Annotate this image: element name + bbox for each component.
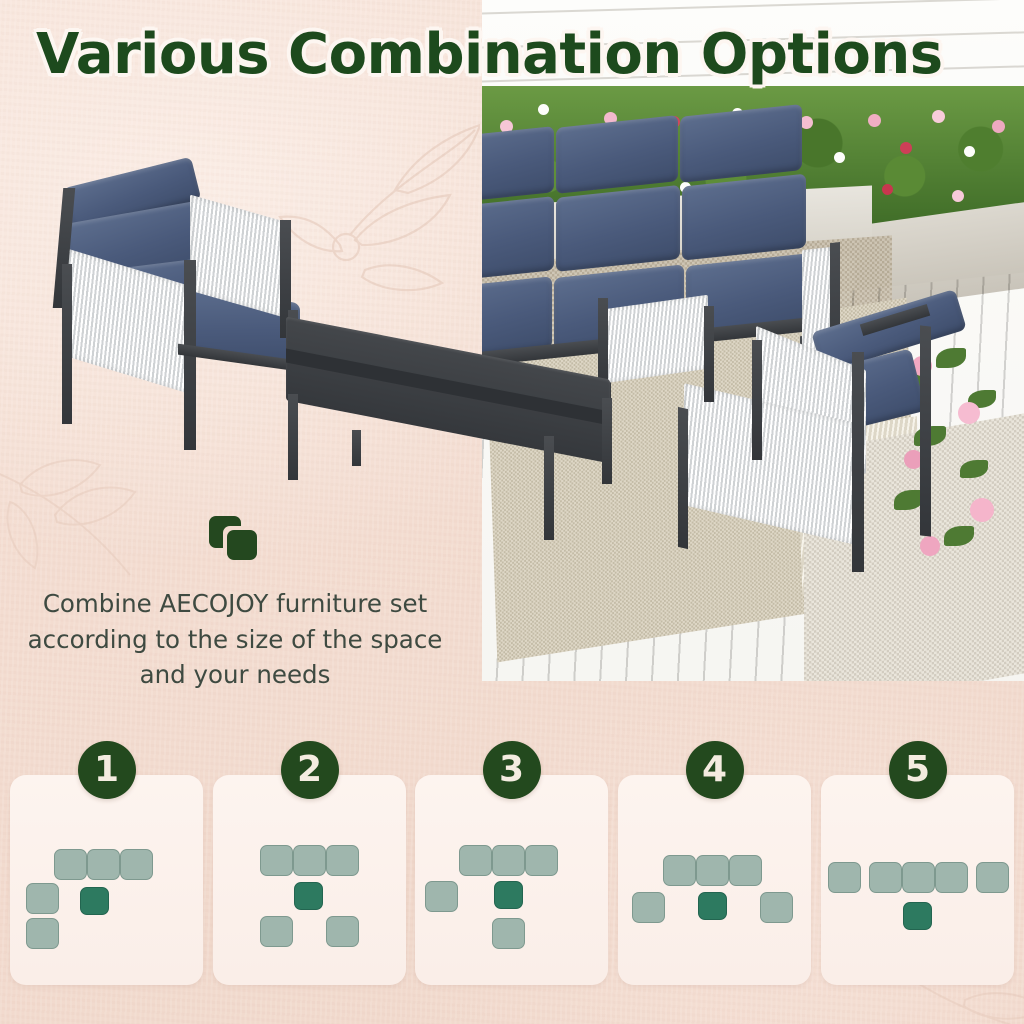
- seat-module: [869, 862, 902, 893]
- seat-module: [87, 849, 120, 880]
- seat-module: [425, 881, 458, 912]
- seat-module: [976, 862, 1009, 893]
- seat-module: [26, 883, 59, 914]
- table-module: [903, 902, 932, 930]
- seat-module: [459, 845, 492, 876]
- layout-diagram: [618, 833, 811, 973]
- table-module: [294, 882, 323, 910]
- seat-module: [935, 862, 968, 893]
- caption-block: Combine AECOJOY furniture set according …: [20, 516, 450, 693]
- combination-options-row: 12345: [0, 766, 1024, 996]
- layout-diagram: [10, 833, 203, 973]
- seat-module: [120, 849, 153, 880]
- layout-diagram: [821, 833, 1014, 973]
- table-module: [698, 892, 727, 920]
- combination-option-1[interactable]: 1: [10, 775, 203, 985]
- seat-module: [696, 855, 729, 886]
- table-module: [494, 881, 523, 909]
- seat-module: [492, 845, 525, 876]
- marketing-banner: Various Combination Options Combine AECO…: [0, 0, 1024, 1024]
- option-number-badge: 4: [686, 741, 744, 799]
- seat-module: [260, 845, 293, 876]
- seat-module: [54, 849, 87, 880]
- rope-armchair-front: [52, 160, 322, 460]
- caption-line-2: according to the size of the space: [20, 622, 450, 658]
- seat-module: [492, 918, 525, 949]
- seat-module: [326, 845, 359, 876]
- caption-line-3: and your needs: [20, 657, 450, 693]
- seat-module: [525, 845, 558, 876]
- seat-module: [729, 855, 762, 886]
- seat-module: [663, 855, 696, 886]
- seat-module: [260, 916, 293, 947]
- combination-option-3[interactable]: 3: [415, 775, 608, 985]
- seat-module: [902, 862, 935, 893]
- option-number-badge: 2: [281, 741, 339, 799]
- combination-option-2[interactable]: 2: [213, 775, 406, 985]
- layout-diagram: [213, 833, 406, 973]
- seat-module: [293, 845, 326, 876]
- option-number-badge: 3: [483, 741, 541, 799]
- seat-module: [326, 916, 359, 947]
- seat-module: [828, 862, 861, 893]
- two-overlapping-squares-icon: [209, 516, 261, 564]
- caption-line-1: Combine AECOJOY furniture set: [20, 586, 450, 622]
- seat-module: [26, 918, 59, 949]
- option-number-badge: 5: [889, 741, 947, 799]
- table-module: [80, 887, 109, 915]
- layout-diagram: [415, 833, 608, 973]
- combination-option-4[interactable]: 4: [618, 775, 811, 985]
- option-number-badge: 1: [78, 741, 136, 799]
- combination-option-5[interactable]: 5: [821, 775, 1014, 985]
- seat-module: [632, 892, 665, 923]
- seat-module: [760, 892, 793, 923]
- page-title: Various Combination Options: [36, 22, 1011, 87]
